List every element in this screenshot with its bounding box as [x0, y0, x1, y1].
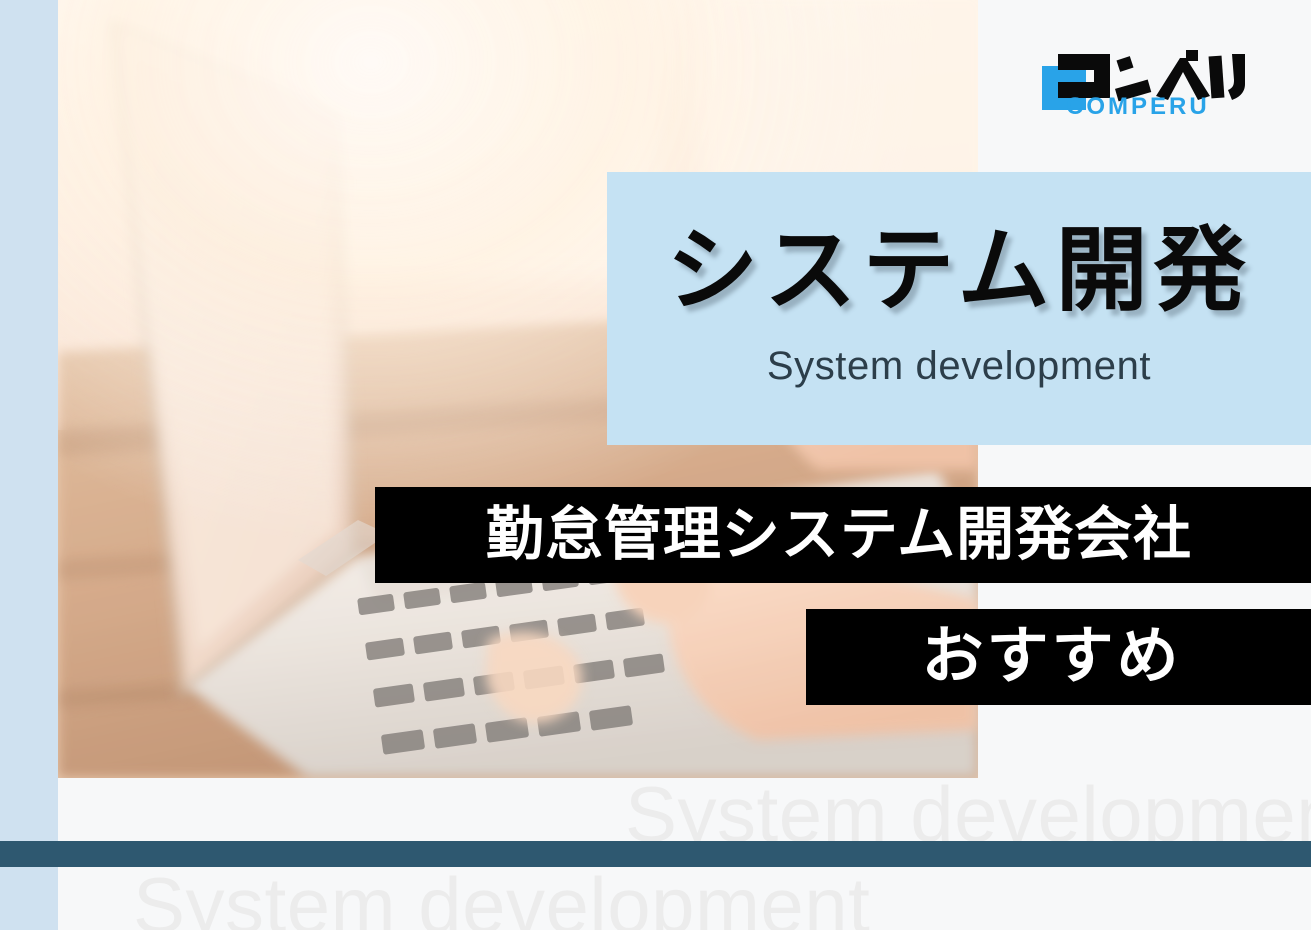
logo-wordmark: COMPERU [1066, 93, 1210, 120]
primary-banner: 勤怠管理システム開発会社 [375, 487, 1311, 583]
primary-banner-label: 勤怠管理システム開発会社 [486, 506, 1192, 564]
title-panel: システム開発 System development [607, 172, 1311, 445]
logo-katakana-ru [1209, 54, 1245, 100]
watermark-text-bottom: System development [133, 866, 870, 930]
company-logo[interactable]: COMPERU [1040, 42, 1252, 120]
page-subtitle: System development [767, 344, 1151, 389]
secondary-banner-label: おすすめ [921, 626, 1181, 688]
secondary-banner: おすすめ [806, 609, 1311, 705]
comperu-logo-mark: COMPERU [1040, 42, 1252, 120]
page-title: システム開発 [666, 222, 1251, 321]
left-accent-strip [0, 0, 58, 930]
slide-canvas: System development System development [0, 0, 1311, 930]
